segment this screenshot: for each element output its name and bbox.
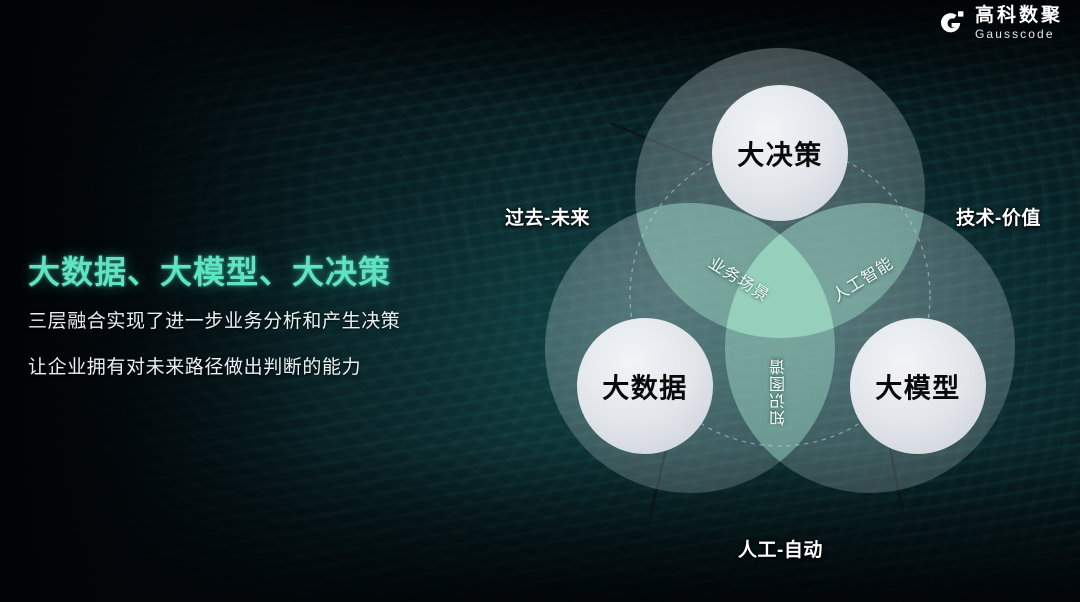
subtitle-line-1: 三层融合实现了进一步业务分析和产生决策 [28,312,478,333]
venn-axis-label-right: 技术-价值 [956,203,1041,230]
venn-core-label-decision: 大决策 [737,134,823,173]
venn-core-label-bigmodel: 大模型 [875,367,961,406]
page-title: 大数据、大模型、大决策 [28,252,478,292]
venn-intersection-label-knowledge-graph: 知识图谱 [768,358,792,426]
subtitle-line-2: 让企业拥有对未来路径做出判断的能力 [28,358,478,379]
slide-canvas: 高科数聚 Gausscode 大数据、大模型、大决策 三层融合实现了进一步业务分… [0,0,1080,602]
venn-core-label-bigdata: 大数据 [602,367,688,406]
copy-block: 大数据、大模型、大决策 三层融合实现了进一步业务分析和产生决策 让企业拥有对未来… [28,252,478,379]
venn-diagram: 大决策 大数据 大模型 业务场景 人工智能 知识图谱 过去-未来 技术-价值 人… [490,18,1070,578]
venn-axis-label-left: 过去-未来 [505,203,590,230]
venn-axis-label-bottom: 人工-自动 [738,535,823,562]
